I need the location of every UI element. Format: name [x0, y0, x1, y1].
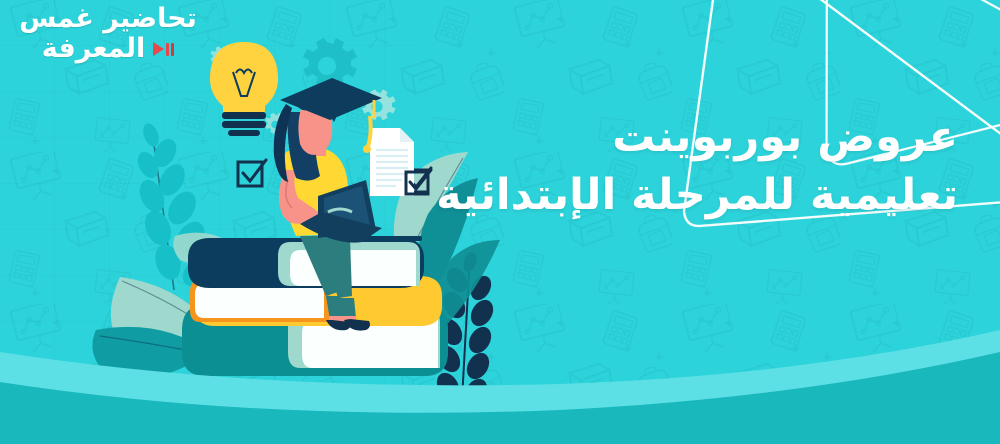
promo-banner: تحاضير غمس المعرفة عروض بوربوينت تعليمية…: [0, 0, 1000, 444]
headline-line-1: عروض بوربوينت: [436, 108, 958, 166]
logo-line-1: تحاضير غمس: [8, 4, 208, 34]
logo-line-2-text: المعرفة: [42, 34, 146, 64]
headline: عروض بوربوينت تعليمية للمرحلة الإبتدائية: [436, 108, 958, 224]
headline-line-2: تعليمية للمرحلة الإبتدائية: [436, 166, 958, 224]
logo-line-2-row: المعرفة: [8, 34, 208, 64]
site-logo[interactable]: تحاضير غمس المعرفة: [8, 4, 208, 90]
play-arrow-icon: [153, 42, 174, 56]
